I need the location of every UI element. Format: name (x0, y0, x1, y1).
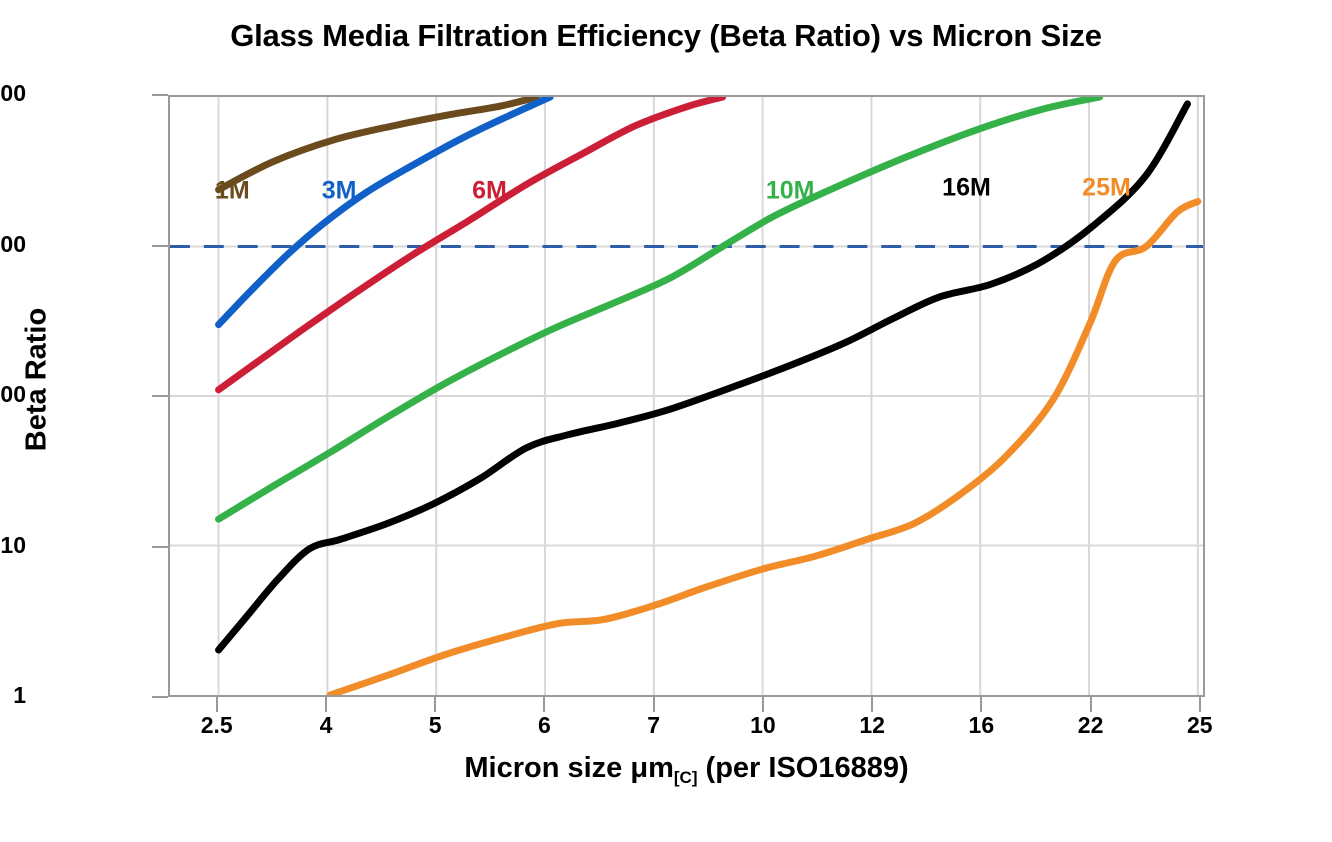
x-axis-title-subscript: [C] (674, 768, 698, 787)
series-label-25m: 25M (1082, 174, 1131, 203)
y-tick-mark (152, 94, 168, 96)
series-label-10m: 10M (766, 177, 815, 206)
y-tick-label: 100 (0, 381, 26, 408)
x-tick-label: 6 (538, 712, 551, 739)
chart-title: Glass Media Filtration Efficiency (Beta … (0, 18, 1332, 54)
x-tick-label: 7 (647, 712, 660, 739)
series-line-10m[interactable] (219, 97, 1100, 519)
series-label-1m: 1M (215, 177, 250, 206)
series-label-16m: 16M (942, 174, 991, 203)
y-tick-label: 1 (13, 682, 26, 709)
x-tick-label: 25 (1187, 712, 1213, 739)
x-tick-label: 2.5 (201, 712, 233, 739)
x-tick-label: 16 (969, 712, 995, 739)
x-tick-mark (653, 697, 655, 712)
x-tick-label: 12 (859, 712, 885, 739)
x-tick-label: 5 (429, 712, 442, 739)
x-tick-mark (871, 697, 873, 712)
series-line-16m[interactable] (219, 104, 1188, 650)
series-line-6m[interactable] (219, 97, 723, 390)
x-tick-mark (1199, 697, 1201, 712)
x-tick-label: 22 (1078, 712, 1104, 739)
y-tick-mark (152, 245, 168, 247)
y-tick-label: 1,000 (0, 231, 26, 258)
x-tick-mark (762, 697, 764, 712)
x-tick-mark (325, 697, 327, 712)
y-axis-tick-labels: 1101001,00010,000 (0, 0, 158, 842)
y-tick-label: 10,000 (0, 80, 26, 107)
x-axis-title: Micron size μm[C] (per ISO16889) (168, 752, 1205, 788)
chart-container: Glass Media Filtration Efficiency (Beta … (0, 0, 1332, 842)
x-axis-title-main: Micron size μm (464, 752, 674, 784)
x-tick-mark (1090, 697, 1092, 712)
x-tick-label: 4 (320, 712, 333, 739)
x-tick-mark (216, 697, 218, 712)
x-tick-mark (980, 697, 982, 712)
series-label-3m: 3M (322, 177, 357, 206)
series-label-6m: 6M (472, 177, 507, 206)
x-tick-mark (434, 697, 436, 712)
y-tick-label: 10 (0, 532, 26, 559)
y-tick-mark (152, 546, 168, 548)
x-tick-label: 10 (750, 712, 776, 739)
series-line-25m[interactable] (330, 201, 1198, 695)
x-tick-mark (543, 697, 545, 712)
y-tick-mark (152, 696, 168, 698)
y-tick-mark (152, 395, 168, 397)
x-axis-title-tail: (per ISO16889) (697, 752, 908, 784)
